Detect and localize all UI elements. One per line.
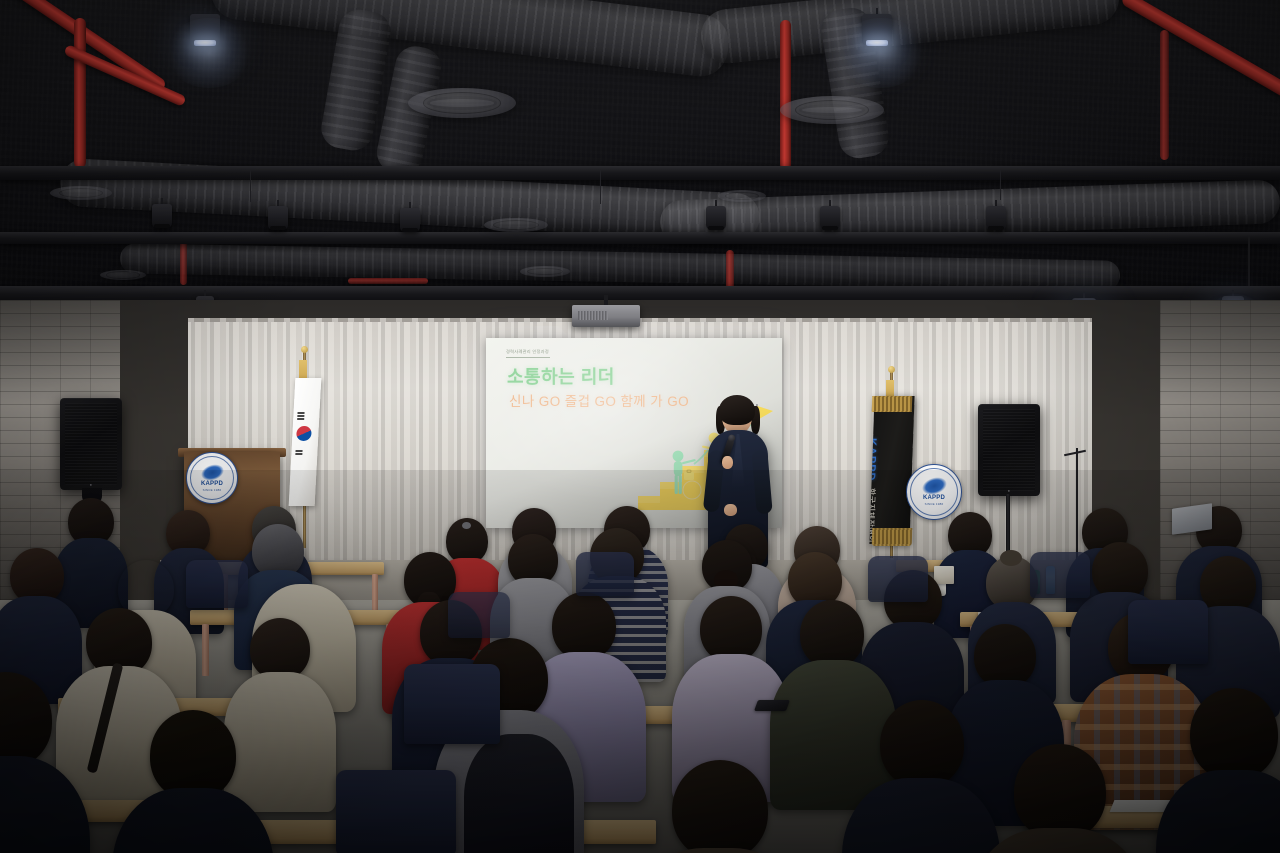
smartphone-2 [754, 700, 790, 711]
chair-3 [1128, 600, 1208, 664]
track-light-lens [988, 226, 1003, 230]
track-light-lens [154, 224, 169, 228]
speaker-logo: ● [90, 482, 93, 487]
track-light-on-left [190, 8, 220, 52]
projector [572, 305, 640, 327]
attendee-head [672, 760, 768, 853]
trigram-top-left-2 [297, 415, 304, 417]
wall-emblem-kappd: KAPPD SINCE 1986 [906, 464, 962, 520]
cable-3 [1000, 170, 1001, 200]
track-light-on-center [862, 8, 892, 52]
track-light-housing [190, 14, 220, 46]
chair-7 [1030, 552, 1090, 598]
sprinkler-pipe-left-vertical [74, 18, 86, 168]
cable-2 [600, 170, 601, 204]
air-diffuser-7 [100, 270, 146, 280]
attendee-head [150, 710, 236, 800]
ceiling [0, 0, 1280, 340]
track-light-2 [268, 200, 288, 234]
air-diffuser-4 [484, 218, 548, 232]
air-diffuser-2 [780, 96, 884, 124]
chair-2 [336, 770, 456, 853]
presenter-hand-gesture [724, 504, 737, 516]
sprinkler-pipe-center-vertical [780, 20, 791, 170]
trigram-top-left-3 [297, 418, 304, 420]
trigram-bottom-left [296, 450, 303, 452]
tissue-box-1 [934, 566, 954, 584]
sprinkler-pipe-far-right [1160, 30, 1169, 160]
track-light-lens-lit [194, 40, 217, 46]
speaker-logo: ● [1008, 488, 1011, 493]
chair-5 [576, 552, 634, 596]
presenter-hair [719, 395, 755, 425]
flagpole-finial-left [301, 346, 308, 353]
sprinkler-pipe-right-vertical [726, 250, 734, 290]
projector-vent [578, 311, 608, 320]
wall-speaker-left: ● [60, 398, 122, 490]
kappd-banner-flag: KAPPD 한국지체장애인협회 [869, 396, 914, 544]
track-light-housing [268, 206, 288, 230]
podium-emblem-kappd: KAPPD SINCE 1986 [186, 452, 238, 504]
track-light-housing [862, 14, 892, 46]
track-light-lens [708, 226, 723, 230]
desk-leg-row2-a [202, 624, 209, 676]
seminar-room-photo: 경력사례관리 인정과정 소통하는 리더 신나 GO 즐겁 GO 함께 가 GO [0, 0, 1280, 853]
track-light-lens [270, 226, 285, 230]
attendee-hair-tie [462, 522, 471, 529]
chair-4 [186, 560, 248, 608]
speaker-grille [65, 403, 117, 485]
attendee-head [974, 624, 1036, 688]
paper-sheet-3 [1110, 800, 1171, 812]
trigram-bottom-left-2 [295, 453, 302, 455]
track-light-housing [706, 206, 726, 230]
track-light-lens-lit [866, 40, 889, 46]
banner-fringe-bottom [872, 528, 913, 546]
track-light-3 [400, 202, 420, 236]
chair-1 [404, 664, 500, 744]
attendee-head [700, 596, 762, 662]
track-light-lens [822, 226, 837, 230]
chair-6 [868, 556, 928, 602]
attendee-hair-bun [1000, 550, 1022, 566]
attendee-head [880, 700, 964, 788]
attendee-head [1190, 688, 1278, 780]
track-light-housing [152, 204, 172, 228]
attendee-body [224, 672, 336, 812]
cable-4 [1248, 236, 1250, 286]
trigram-top-left [297, 412, 304, 414]
air-diffuser-1 [408, 88, 516, 118]
desk-leg-row1-b [372, 574, 378, 614]
speaker-grille [983, 409, 1035, 491]
attendee-head [552, 592, 616, 660]
sprinkler-pipe-low-left [180, 240, 187, 285]
track-light-housing [820, 206, 840, 230]
chair-8 [448, 592, 510, 638]
attendee-head [800, 600, 864, 668]
attendee-dark-backpack [464, 734, 574, 853]
taeguk-symbol [296, 426, 312, 441]
presenter-hand-mic [722, 456, 733, 469]
cable-1 [250, 170, 251, 202]
sprinkler-pipe-low-center [348, 278, 428, 284]
ceiling-beam-upper [0, 166, 1280, 180]
flagpole-finial-right [888, 366, 895, 373]
air-diffuser-6 [520, 266, 570, 277]
track-light-6 [986, 200, 1006, 234]
track-light-housing [400, 208, 420, 232]
track-light-lens [402, 228, 417, 232]
track-light-5 [820, 200, 840, 234]
attendee-head [250, 618, 310, 680]
banner-fringe-top [872, 396, 913, 412]
track-light-housing [986, 206, 1006, 230]
pa-speaker-right: ● [978, 404, 1040, 496]
air-diffuser-3 [50, 186, 112, 200]
track-light-1 [152, 198, 172, 232]
ceiling-beam-mid [0, 232, 1280, 244]
track-light-4 [706, 200, 726, 234]
attendee-head [1014, 744, 1106, 840]
